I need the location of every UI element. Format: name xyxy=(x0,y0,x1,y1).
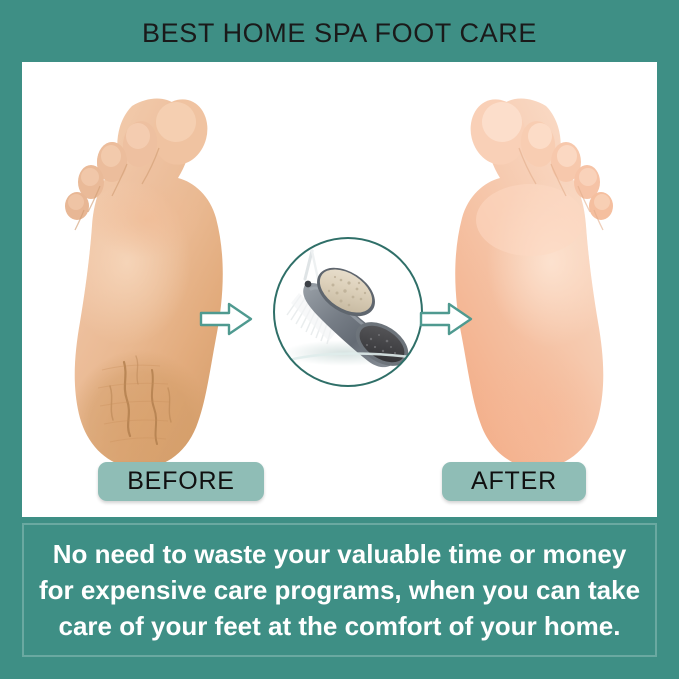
caption-box: No need to waste your valuable time or m… xyxy=(22,523,657,657)
page-title: BEST HOME SPA FOOT CARE xyxy=(0,16,679,50)
infographic-root: BEST HOME SPA FOOT CARE xyxy=(0,0,679,679)
arrow-right-icon-right xyxy=(418,301,474,337)
after-label: AFTER xyxy=(442,462,586,501)
product-tool-inset xyxy=(271,235,425,389)
content-panel: BEFORE AFTER xyxy=(22,62,657,517)
before-label: BEFORE xyxy=(98,462,264,501)
arrow-right-icon-left xyxy=(198,301,254,337)
before-foot-image xyxy=(28,70,298,490)
caption-text: No need to waste your valuable time or m… xyxy=(24,536,655,644)
